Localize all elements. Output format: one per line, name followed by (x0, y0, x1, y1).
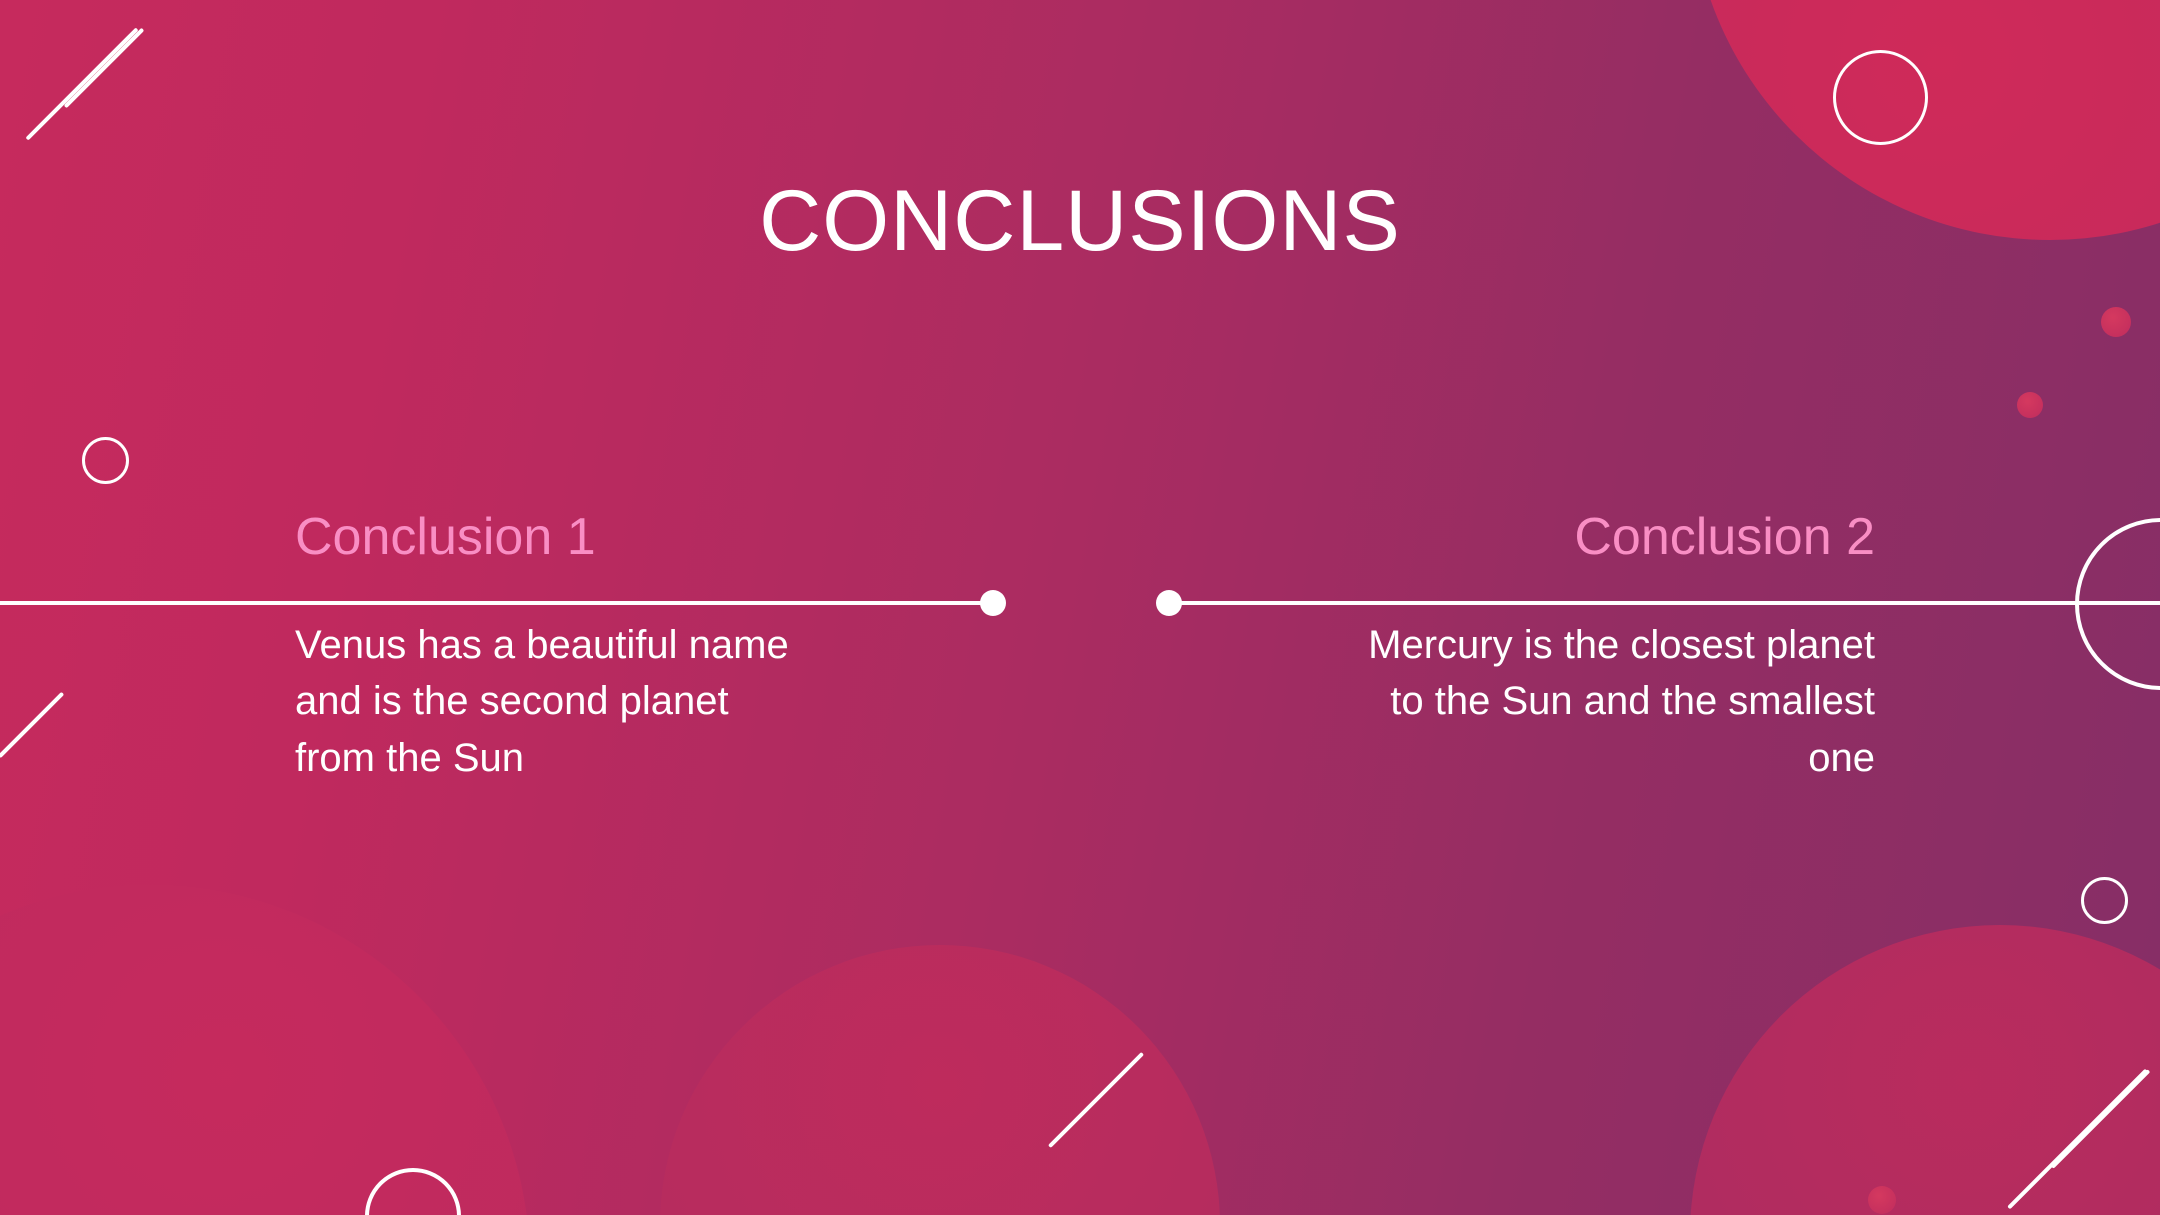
ring-outline-icon-bottom-left (365, 1168, 461, 1215)
ring-outline-icon-top-right (1833, 50, 1928, 145)
conclusion-body-2: Mercury is the closest planet to the Sun… (1355, 581, 1875, 787)
background-blob-bottom-center (660, 945, 1220, 1215)
slide-canvas: CONCLUSIONS Conclusion 1 Venus has a bea… (0, 0, 2160, 1215)
ring-outline-icon-left (82, 437, 129, 484)
slash-line-icon-bottom-right-1 (2007, 1069, 2148, 1210)
background-blob-bottom-left (0, 885, 530, 1215)
conclusion-body-1: Venus has a beautiful name and is the se… (295, 581, 815, 787)
accent-dot-icon-1 (2101, 307, 2131, 337)
accent-dot-icon-3 (1868, 1186, 1896, 1214)
accent-dot-icon-2 (2017, 392, 2043, 418)
conclusion-column-1: Conclusion 1 Venus has a beautiful name … (295, 510, 1055, 787)
slash-line-icon-bottom-center (1048, 1052, 1144, 1148)
background-blob-bottom-right (1690, 925, 2160, 1215)
slash-line-icon-top-left-2 (64, 28, 145, 109)
slash-line-icon-top-left-1 (25, 27, 138, 140)
conclusion-column-2: Conclusion 2 Mercury is the closest plan… (1115, 510, 1875, 787)
page-title: CONCLUSIONS (0, 178, 2160, 264)
slash-line-icon-bottom-right-2 (2051, 1069, 2151, 1169)
conclusions-container: Conclusion 1 Venus has a beautiful name … (0, 510, 2160, 890)
conclusion-heading-2: Conclusion 2 (1115, 510, 1875, 581)
conclusion-heading-1: Conclusion 1 (295, 510, 1055, 581)
